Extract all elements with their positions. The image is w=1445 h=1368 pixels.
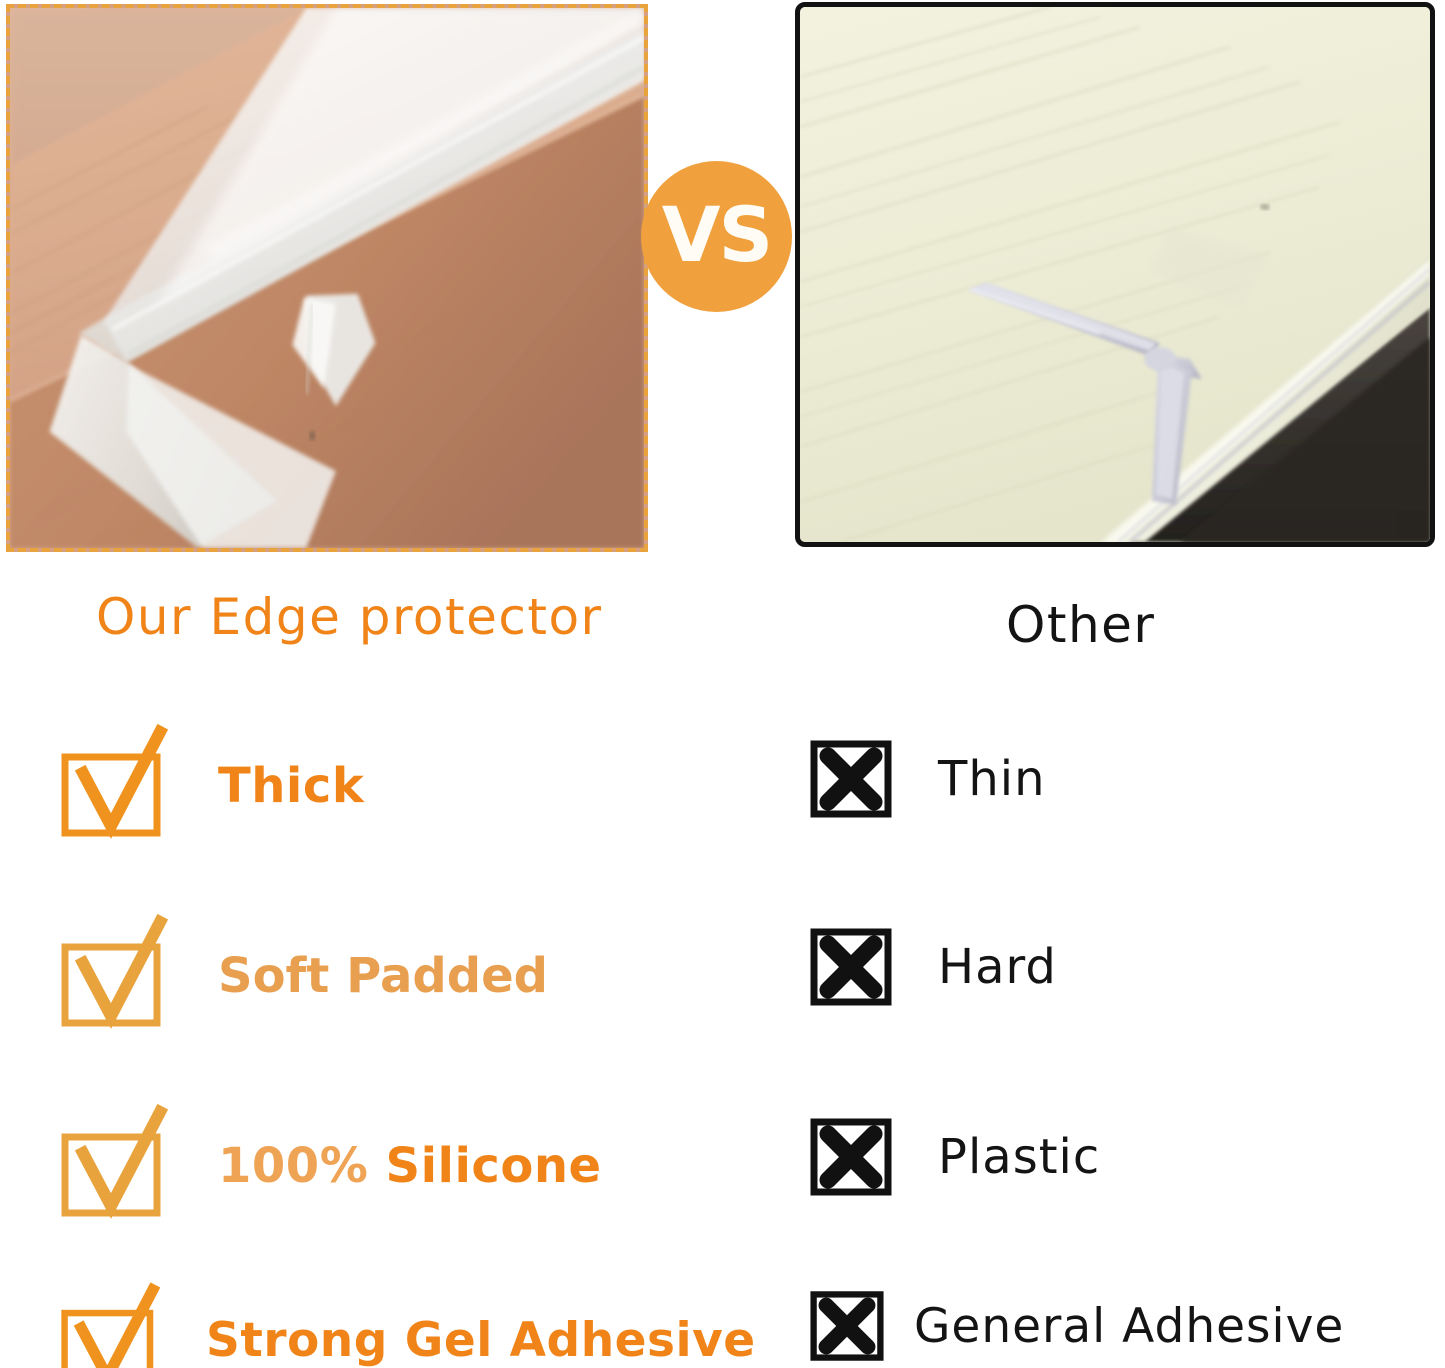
photo-our-edge-protector xyxy=(6,4,648,552)
feature-row-other-thin: Thin xyxy=(810,740,1046,818)
feature-row-other-plastic: Plastic xyxy=(810,1118,1100,1196)
vs-badge: VS xyxy=(641,161,792,312)
our-product-photo-illustration xyxy=(10,8,644,548)
feature-label: Thin xyxy=(938,755,1046,803)
other-product-photo-illustration xyxy=(800,7,1430,542)
feature-row-ours-soft-padded: Soft Padded xyxy=(56,920,548,1032)
feature-label: Hard xyxy=(938,943,1057,991)
heading-our-edge-protector: Our Edge protector xyxy=(96,588,603,646)
feature-label: Strong Gel Adhesive xyxy=(206,1317,756,1364)
check-mark-icon xyxy=(56,730,174,842)
feature-label: Soft Padded xyxy=(218,952,548,1000)
feature-label: General Adhesive xyxy=(914,1303,1344,1350)
check-mark-icon xyxy=(56,920,174,1032)
cross-mark-icon xyxy=(810,740,892,818)
feature-row-ours-gel-adhesive: Strong Gel Adhesive xyxy=(56,1288,756,1368)
comparison-infographic: VS xyxy=(0,0,1445,1368)
check-mark-icon xyxy=(56,1288,166,1368)
cross-mark-icon xyxy=(810,928,892,1006)
cross-mark-icon xyxy=(810,1290,884,1362)
heading-other: Other xyxy=(1006,596,1155,654)
check-mark-icon xyxy=(56,1110,174,1222)
feature-label: Plastic xyxy=(938,1133,1100,1181)
feature-row-other-hard: Hard xyxy=(810,928,1057,1006)
feature-row-ours-silicone: 100% Silicone xyxy=(56,1110,602,1222)
feature-row-other-general-adhesive: General Adhesive xyxy=(810,1290,1344,1362)
feature-label-emphasis: Silicone xyxy=(386,1138,602,1194)
feature-row-ours-thick: Thick xyxy=(56,730,364,842)
feature-label-composite: 100% Silicone xyxy=(218,1142,602,1190)
feature-label: Thick xyxy=(218,762,364,810)
cross-mark-icon xyxy=(810,1118,892,1196)
photo-other-product xyxy=(795,2,1435,547)
vs-label: VS xyxy=(662,197,772,277)
feature-label-prefix: 100% xyxy=(218,1138,386,1194)
